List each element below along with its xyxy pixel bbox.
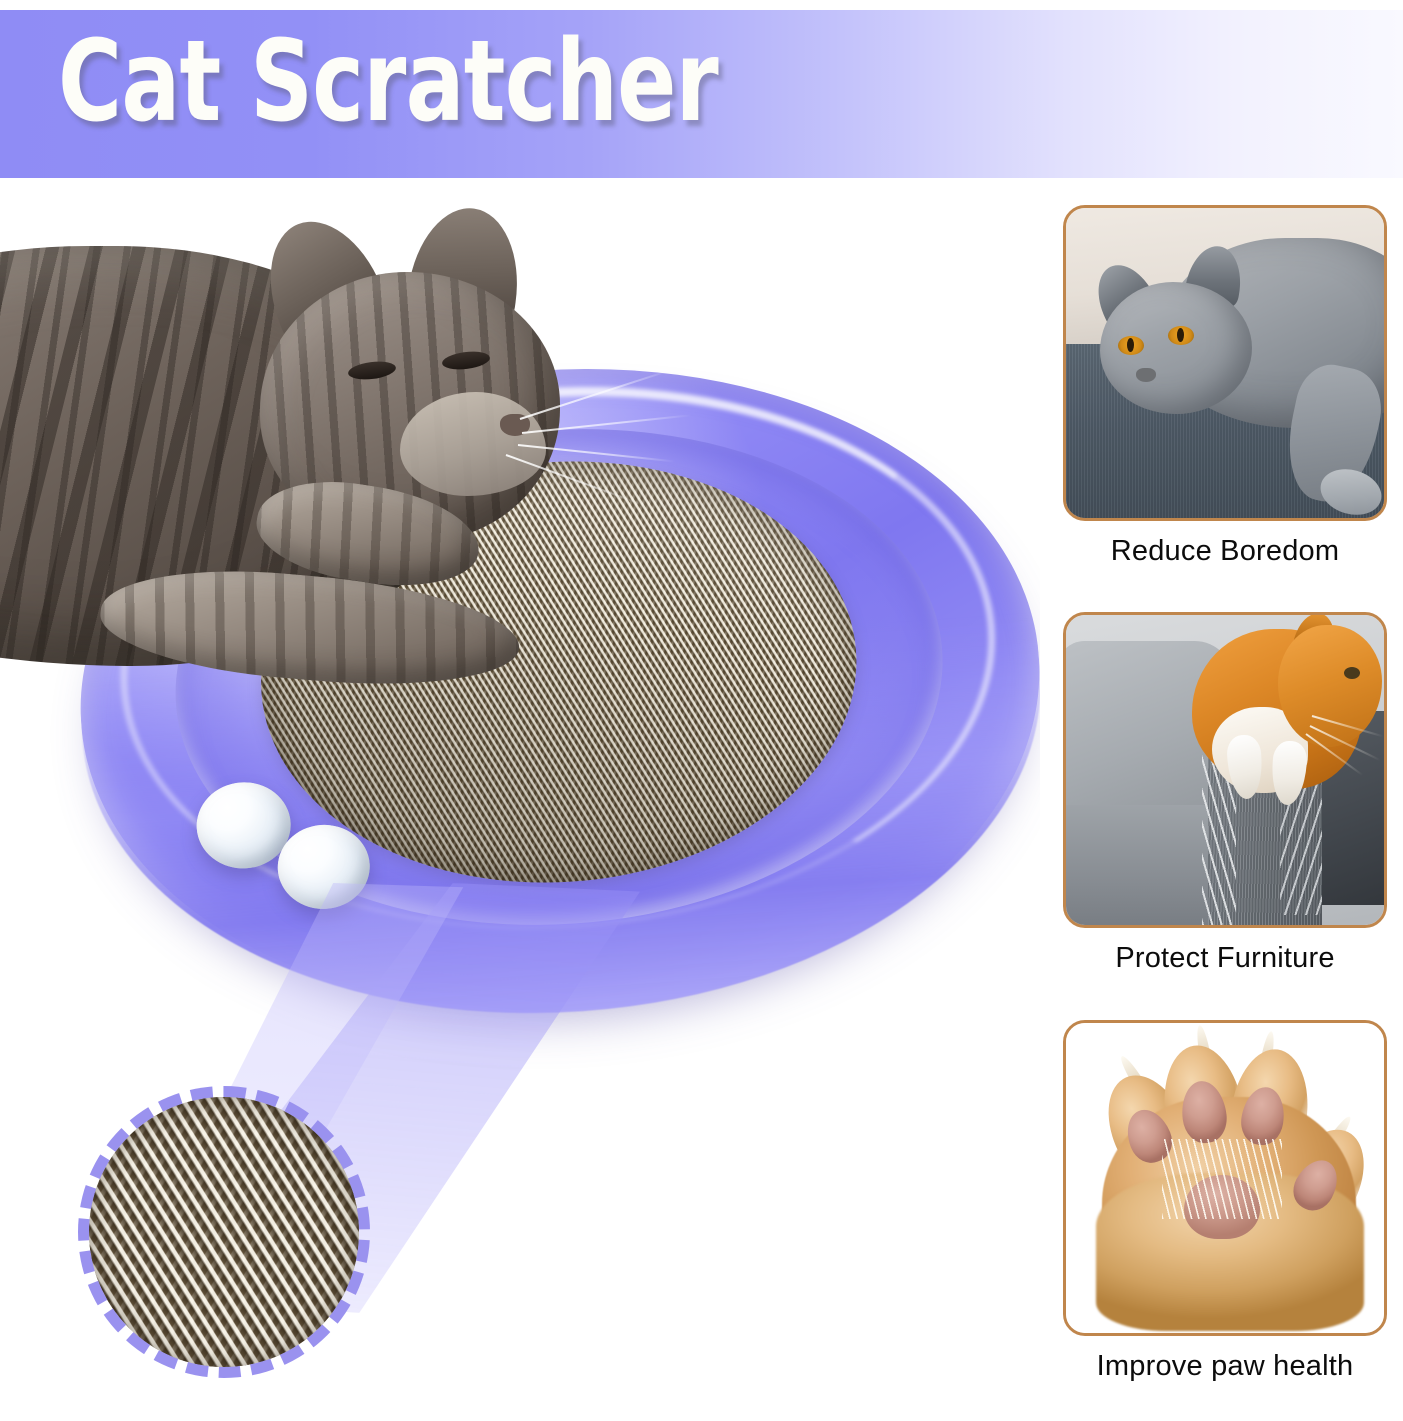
header-banner: Cat Scratcher: [0, 10, 1403, 178]
feature-card-improve-paw-health: Improve paw health: [1063, 1020, 1387, 1383]
tabby-cat-photo: [0, 186, 660, 766]
feature-thumb-grey-cat-on-sofa: [1063, 205, 1387, 521]
feature-caption: Protect Furniture: [1063, 942, 1387, 975]
feature-benefits-column: Reduce Boredom: [1040, 178, 1403, 1421]
feature-caption: Improve paw health: [1063, 1350, 1387, 1383]
thumb1-cat-nose: [1136, 368, 1156, 382]
cardboard-detail-magnifier: [78, 1086, 370, 1378]
thumb1-cat-pupil-left: [1127, 338, 1134, 352]
product-marketing-image: Cat Scratcher: [0, 0, 1403, 1421]
feature-thumb-cat-paw: [1063, 1020, 1387, 1336]
feature-card-protect-furniture: Protect Furniture: [1063, 612, 1387, 975]
page-title: Cat Scratcher: [58, 26, 718, 138]
thumb3-fur-wisps: [1162, 1139, 1282, 1219]
cat-lower-paw: [96, 558, 523, 698]
feature-caption: Reduce Boredom: [1063, 535, 1387, 568]
feature-card-reduce-boredom: Reduce Boredom: [1063, 205, 1387, 568]
feature-thumb-cat-scratching-sofa: [1063, 612, 1387, 928]
thumb2-cat-eye: [1344, 667, 1360, 679]
hero-product-stage: [0, 178, 1040, 1421]
thumb1-cat-pupil-right: [1177, 328, 1184, 342]
